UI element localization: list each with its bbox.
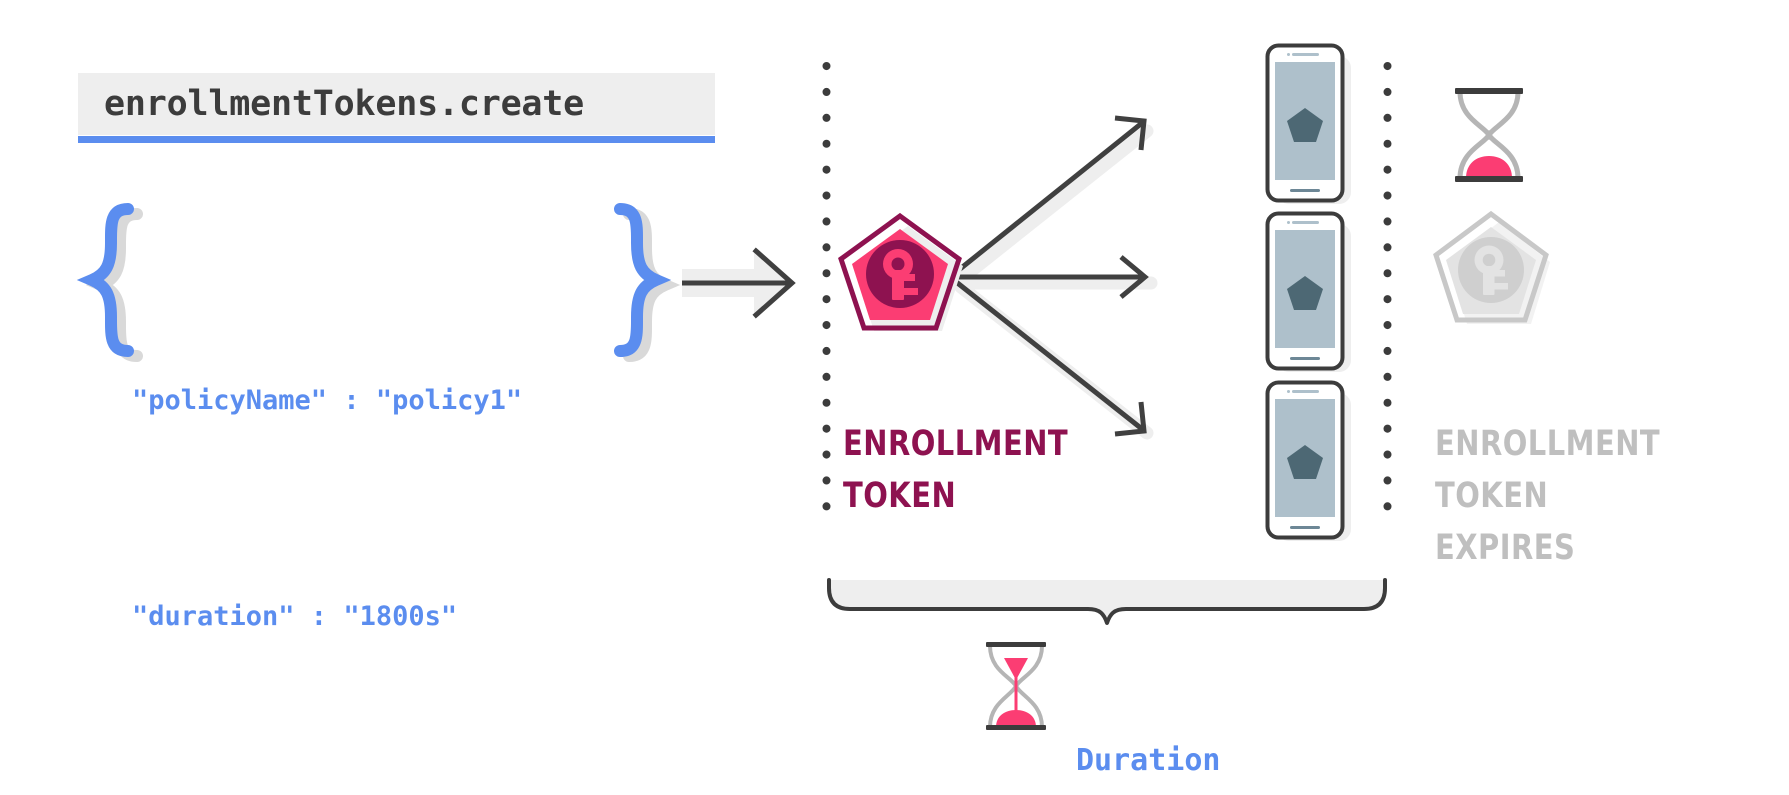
api-method-underline bbox=[78, 136, 715, 143]
expiry-label-line-1: ENROLLMENT bbox=[1435, 418, 1660, 470]
duration-caption: Duration 1800 seconds bbox=[1076, 658, 1293, 795]
duration-title: Duration bbox=[1076, 740, 1293, 781]
device-phone-1 bbox=[1266, 44, 1352, 204]
enrollment-token-pentagon-icon bbox=[836, 212, 968, 334]
boundary-dotted-line-right bbox=[1383, 62, 1392, 534]
enrollment-token-label: ENROLLMENT TOKEN bbox=[843, 418, 1068, 522]
api-method-label: enrollmentTokens.create bbox=[104, 84, 584, 124]
request-body-block: "policyName" : "policy1" "duration" : "1… bbox=[84, 203, 664, 358]
enrollment-token-label-line-2: TOKEN bbox=[843, 470, 1068, 522]
enrollment-token-expires-label: ENROLLMENT TOKEN EXPIRES bbox=[1435, 418, 1660, 574]
expired-token-pentagon-icon bbox=[1430, 210, 1554, 330]
api-method-header: enrollmentTokens.create bbox=[78, 73, 715, 135]
boundary-dotted-line-left bbox=[822, 62, 831, 534]
hourglass-running-icon bbox=[980, 640, 1052, 732]
close-brace-icon bbox=[604, 203, 664, 358]
hourglass-expired-icon bbox=[1448, 86, 1530, 184]
token-distribution-arrows bbox=[955, 95, 1245, 445]
duration-span-brace bbox=[826, 578, 1388, 626]
request-arrow bbox=[682, 243, 802, 323]
device-phone-2 bbox=[1266, 212, 1352, 372]
request-body-json: "policyName" : "policy1" "duration" : "1… bbox=[132, 221, 522, 795]
expiry-label-line-3: EXPIRES bbox=[1435, 522, 1660, 574]
json-line-policyname: "policyName" : "policy1" bbox=[132, 365, 522, 437]
json-line-duration: "duration" : "1800s" bbox=[132, 581, 522, 653]
diagram-canvas: enrollmentTokens.create "policyName" : "… bbox=[0, 0, 1789, 795]
device-phone-3 bbox=[1266, 381, 1352, 541]
enrollment-token-label-line-1: ENROLLMENT bbox=[843, 418, 1068, 470]
expiry-label-line-2: TOKEN bbox=[1435, 470, 1660, 522]
